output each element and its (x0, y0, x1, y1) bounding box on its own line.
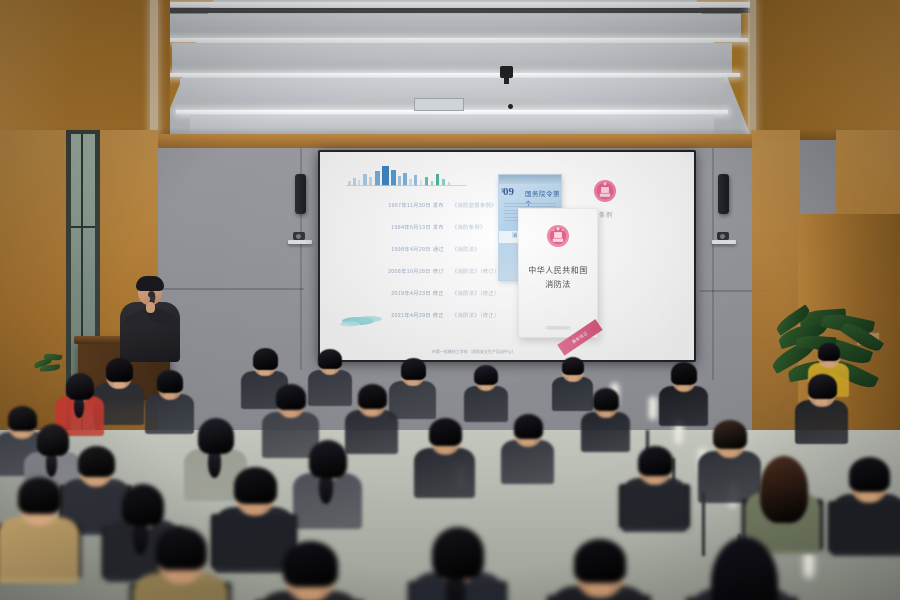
audience-member (142, 530, 220, 600)
audience-hair (514, 414, 543, 438)
audience-hair (401, 358, 426, 379)
audience-torso (389, 381, 435, 419)
audience-hair (818, 343, 840, 362)
audience-torso (464, 386, 508, 422)
presentation-slide: 1957年11月30日 发布 《消防监督条例》 1984年5月13日 发布 《消… (320, 152, 694, 360)
audience-torso (831, 494, 900, 556)
audience-hair (760, 456, 808, 523)
audience-hair (253, 348, 278, 369)
ceiling-panel (172, 43, 732, 73)
timeline-date: 1998年4月29日 通过 (342, 246, 452, 253)
audience-member (628, 448, 682, 532)
gazette-header-band (499, 175, 561, 184)
audience-hair (309, 440, 347, 478)
audience-hair (474, 365, 497, 385)
audience-member (704, 422, 756, 503)
ceiling-seam (146, 8, 764, 13)
audience-hair (234, 467, 277, 504)
audience-hair (593, 388, 619, 410)
audience-torso (795, 400, 849, 444)
audience-hair (78, 446, 114, 477)
camera-device-right (717, 232, 729, 240)
audience-torso (659, 386, 708, 426)
audience-member (560, 542, 640, 600)
audience-hair (711, 537, 778, 600)
audience-hair (432, 527, 484, 579)
audience-hair (849, 457, 889, 491)
national-emblem-icon (592, 178, 618, 204)
ceiling-projector-icon (500, 66, 513, 78)
timeline-date: 1957年11月30日 发布 (342, 202, 452, 209)
audience-member (150, 372, 190, 434)
audience (0, 330, 900, 600)
audience-member (586, 390, 626, 452)
book-title-line1: 中华人民共和国 (519, 265, 597, 276)
audience-hair (18, 477, 61, 514)
audience-member (312, 350, 348, 406)
audience-member (394, 360, 432, 419)
audience-hair (198, 418, 233, 453)
audience-member (6, 480, 72, 582)
audience-hair (122, 484, 164, 526)
ceiling-light-strip (150, 2, 760, 7)
audience-member (300, 442, 356, 529)
audience-hair (318, 349, 341, 369)
audience-hair (429, 418, 462, 446)
ceiling-mount (504, 78, 509, 84)
audience-hair (106, 358, 133, 381)
audience-torso (0, 517, 79, 583)
presenter-hair (136, 276, 164, 291)
wall-speaker-left (295, 174, 306, 214)
audience-member (420, 530, 496, 600)
audience-member (800, 376, 844, 444)
audience-hair (808, 374, 837, 398)
timeline-date: 1984年5月13日 发布 (342, 224, 452, 231)
audience-member (268, 544, 352, 600)
ceiling-light-strip (166, 73, 740, 77)
audience-hair (358, 384, 387, 408)
audience-member (700, 540, 786, 600)
audience-member (838, 460, 900, 556)
audience-member (556, 358, 590, 411)
audience-torso (145, 394, 194, 434)
audience-hair (37, 424, 68, 455)
audience-member (98, 360, 140, 425)
audience-member (664, 364, 704, 426)
audience-hair (157, 370, 183, 392)
camera-device-left (293, 232, 305, 240)
audience-hair (713, 420, 747, 449)
ceiling-light-strip (160, 38, 748, 42)
audience-torso (581, 412, 630, 452)
audience-hair (276, 384, 306, 410)
conference-room-photo: 1957年11月30日 发布 《消防监督条例》 1984年5月13日 发布 《消… (0, 0, 900, 600)
audience-member (506, 416, 550, 484)
ceiling-sensor-icon (508, 104, 513, 109)
audience-hair (156, 527, 207, 570)
gazette-number: 09 (503, 186, 514, 198)
screen-surface: 1957年11月30日 发布 《消防监督条例》 1984年5月13日 发布 《消… (320, 152, 694, 360)
audience-torso (622, 478, 688, 532)
timeline-date: 2008年10月28日 修订 (342, 268, 452, 275)
wood-valance (150, 134, 760, 148)
audience-hair (574, 539, 626, 583)
audience-hair (283, 541, 338, 588)
audience-member (350, 386, 394, 454)
audience-torso (501, 440, 555, 484)
audience-hair (671, 362, 697, 384)
ceiling-panel (165, 14, 741, 38)
wall-speaker-right (718, 174, 729, 214)
city-skyline-icon (346, 164, 466, 186)
audience-member (420, 420, 470, 498)
audience-torso (308, 370, 352, 406)
ceiling-vent (414, 98, 464, 111)
audience-hair (562, 357, 584, 376)
fire-law-book-cover: 中华人民共和国 消防法 最新修正 中国法制出版社 (518, 208, 598, 338)
audience-hair (66, 373, 93, 400)
equipment-shelf-left (288, 240, 312, 244)
presenter-hand (146, 302, 155, 313)
water-wave-icon (336, 312, 396, 330)
audience-member (468, 366, 504, 422)
water-bottle (804, 551, 814, 578)
equipment-shelf-right (712, 240, 736, 244)
microphone-head (148, 291, 155, 298)
audience-hair (638, 446, 673, 476)
timeline-date: 2019年4月23日 修正 (342, 290, 452, 297)
audience-torso (414, 448, 475, 498)
book-title-line2: 消防法 (519, 279, 597, 290)
water-bottle (649, 397, 657, 421)
national-emblem-icon (545, 223, 571, 249)
door-rail (71, 226, 95, 228)
